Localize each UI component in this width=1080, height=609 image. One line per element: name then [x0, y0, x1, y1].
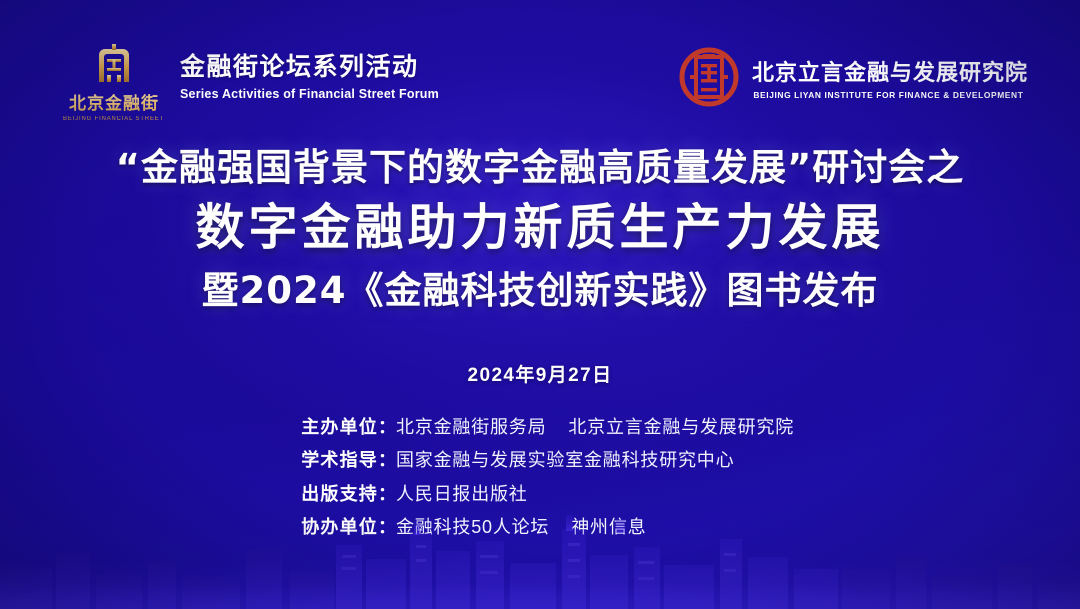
credit-value-a: 金融科技50人论坛 [396, 517, 549, 537]
forum-title-block: 金融街论坛系列活动 Series Activities of Financial… [180, 42, 439, 101]
gate-emblem-icon [94, 42, 134, 86]
credit-label: 协办单位 [260, 515, 378, 539]
credit-colon: ： [378, 448, 396, 472]
event-date: 2024年9月27日 [0, 360, 1080, 387]
bfs-brand-cn: 北京金融街 [69, 89, 159, 114]
credit-value: 国家金融与发展实验室金融科技研究中心 [396, 448, 820, 472]
credit-row-organizer: 主办单位 ： 北京金融街服务局北京立言金融与发展研究院 [260, 415, 820, 439]
liyan-name-en: BEIJING LIYAN INSTITUTE FOR FINANCE & DE… [753, 90, 1026, 100]
credit-value: 金融科技50人论坛神州信息 [396, 515, 820, 539]
credit-value-b: 神州信息 [571, 517, 646, 537]
credit-value-a: 北京金融街服务局 [396, 417, 546, 437]
title-line-2: 数字金融助力新质生产力发展 [0, 198, 1080, 257]
title-line-3: 暨2024《金融科技创新实践》图书发布 [0, 269, 1080, 313]
credit-row-academic: 学术指导 ： 国家金融与发展实验室金融科技研究中心 [260, 448, 820, 472]
beijing-financial-street-mark: 北京金融街 BEIJING FINANCIAL STREET [62, 42, 166, 122]
credit-colon: ： [378, 515, 396, 539]
liyan-name-cn: 北京立言金融与发展研究院 [752, 55, 1028, 87]
event-poster: 北京金融街 BEIJING FINANCIAL STREET 金融街论坛系列活动… [0, 0, 1080, 609]
credit-colon: ： [378, 415, 396, 439]
title-line-1: “金融强国背景下的数字金融高质量发展”研讨会之 [0, 145, 1080, 190]
forum-title-cn: 金融街论坛系列活动 [180, 47, 439, 83]
credits-block: 主办单位 ： 北京金融街服务局北京立言金融与发展研究院 学术指导 ： 国家金融与… [0, 415, 1080, 548]
credit-row-publisher: 出版支持 ： 人民日报出版社 [260, 482, 820, 506]
credit-label: 学术指导 [260, 448, 378, 472]
ground-glow [0, 563, 1080, 609]
forum-title-en: Series Activities of Financial Street Fo… [180, 87, 439, 101]
credit-row-cohost: 协办单位 ： 金融科技50人论坛神州信息 [260, 515, 820, 539]
credit-value-b: 北京立言金融与发展研究院 [568, 417, 794, 437]
bfs-brand-en: BEIJING FINANCIAL STREET [63, 116, 164, 122]
credit-label: 主办单位 [260, 415, 378, 439]
liyan-seal-icon [678, 46, 740, 108]
liyan-name-block: 北京立言金融与发展研究院 BEIJING LIYAN INSTITUTE FOR… [752, 55, 1028, 100]
credit-colon: ： [378, 482, 396, 506]
financial-street-forum-logo: 北京金融街 BEIJING FINANCIAL STREET 金融街论坛系列活动… [62, 42, 439, 122]
credit-value: 北京金融街服务局北京立言金融与发展研究院 [396, 415, 820, 439]
title-block: “金融强国背景下的数字金融高质量发展”研讨会之 数字金融助力新质生产力发展 暨2… [0, 145, 1080, 313]
credit-value: 人民日报出版社 [396, 482, 820, 506]
credit-label: 出版支持 [260, 482, 378, 506]
liyan-institute-logo: 北京立言金融与发展研究院 BEIJING LIYAN INSTITUTE FOR… [678, 46, 1028, 108]
poster-header: 北京金融街 BEIJING FINANCIAL STREET 金融街论坛系列活动… [0, 0, 1080, 132]
